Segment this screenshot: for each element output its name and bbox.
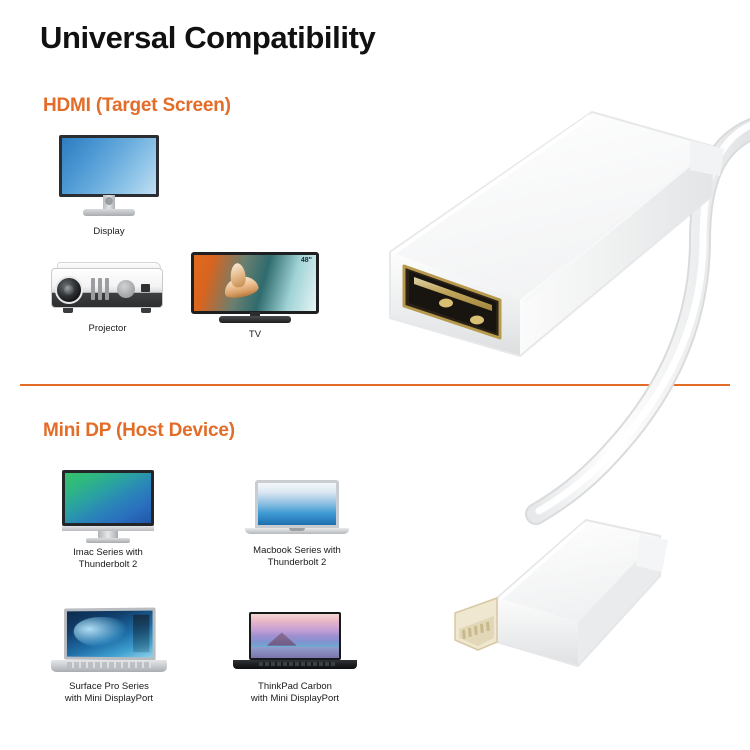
device-label-imac: Imac Series with Thunderbolt 2	[48, 547, 168, 571]
device-tile-projector: Projector	[35, 258, 180, 335]
device-tile-tv: 48" TV	[190, 252, 320, 341]
thinkpad-laptop-icon	[231, 612, 359, 678]
projector-icon	[43, 258, 173, 320]
monitor-icon	[53, 135, 165, 223]
section-divider	[20, 384, 730, 386]
product-infographic: Universal Compatibility HDMI (Target Scr…	[0, 0, 750, 750]
device-label-display: Display	[44, 226, 174, 238]
hdmi-port	[404, 266, 500, 338]
tv-icon: 48"	[191, 252, 319, 326]
surface-laptop-icon	[47, 608, 171, 678]
page-title: Universal Compatibility	[40, 20, 375, 56]
device-tile-thinkpad: ThinkPad Carbon with Mini DisplayPort	[228, 612, 362, 705]
device-tile-macbook: Macbook Series with Thunderbolt 2	[232, 480, 362, 569]
mini-dp-metal-tongue	[455, 598, 497, 650]
device-label-surface-pro: Surface Pro Series with Mini DisplayPort	[44, 681, 174, 705]
imac-icon	[56, 470, 160, 544]
section-heading-minidp: Mini DP (Host Device)	[43, 420, 235, 442]
device-label-projector: Projector	[35, 323, 180, 335]
section-heading-hdmi: HDMI (Target Screen)	[43, 95, 231, 117]
tv-size-badge: 48"	[301, 257, 312, 264]
device-tile-surface-pro: Surface Pro Series with Mini DisplayPort	[44, 608, 174, 705]
device-tile-imac: Imac Series with Thunderbolt 2	[48, 470, 168, 571]
device-label-thinkpad: ThinkPad Carbon with Mini DisplayPort	[228, 681, 362, 705]
macbook-icon	[239, 480, 355, 542]
adapter-cable	[536, 126, 750, 514]
device-tile-display: Display	[44, 135, 174, 238]
device-label-tv: TV	[190, 329, 320, 341]
device-label-macbook: Macbook Series with Thunderbolt 2	[232, 545, 362, 569]
mini-dp-connector	[455, 520, 668, 666]
hdmi-connector	[390, 112, 724, 356]
